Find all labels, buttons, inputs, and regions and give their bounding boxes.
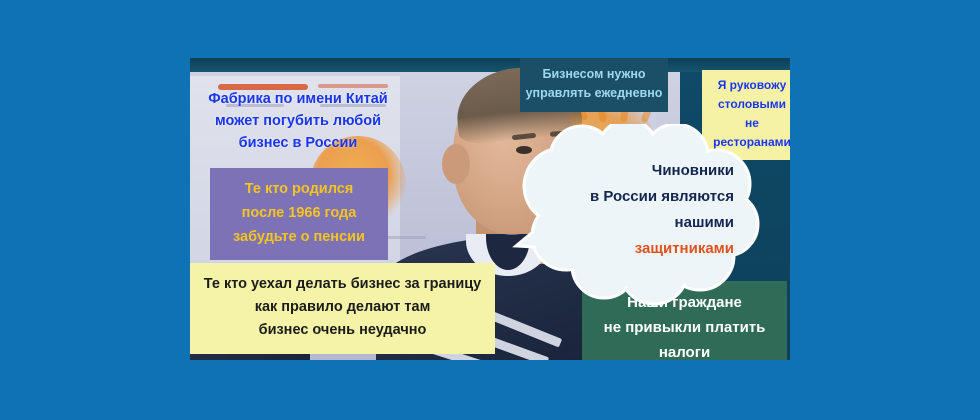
caption-abroad-line-3: бизнес очень неудачно [198, 319, 487, 342]
caption-pension-line-3: забудьте о пенсии [216, 225, 382, 249]
caption-china-line-2: может погубить любой [198, 110, 398, 132]
speech-cloud: Чиновники в России являются нашими защит… [510, 124, 760, 309]
caption-abroad-line-1: Те кто уехал делать бизнес за границу [198, 273, 487, 296]
person-ear [442, 144, 470, 184]
caption-china: Фабрика по имени Китай может погубить лю… [198, 88, 398, 154]
caption-pension: Те кто родился после 1966 года забудьте … [210, 168, 388, 260]
caption-daily-line-2: управлять ежедневно [525, 84, 663, 103]
cloud-line-3: нашими [538, 210, 734, 236]
caption-china-line-3: бизнес в России [198, 132, 398, 154]
cloud-line-highlight: защитниками [538, 236, 734, 262]
caption-china-line-1: Фабрика по имени Китай [198, 88, 398, 110]
cloud-line-1: Чиновники [538, 158, 734, 184]
photo-collage: НАШЕ ПОДМОСКОВЬЕ Фабрика по имени Китай … [190, 58, 790, 360]
backdrop-top-bar [190, 58, 790, 72]
caption-canteen-line-1: Я руковожу [705, 76, 790, 95]
caption-daily-management: Бизнесом нужно управлять ежедневно [520, 58, 668, 112]
caption-pension-line-2: после 1966 года [216, 201, 382, 225]
caption-daily-line-1: Бизнесом нужно [525, 65, 663, 84]
caption-abroad-line-2: как правило делают там [198, 296, 487, 319]
caption-pension-line-1: Те кто родился [216, 177, 382, 201]
caption-abroad: Те кто уехал делать бизнес за границу ка… [190, 263, 495, 354]
caption-taxes-line-2: не привыкли платить [590, 315, 779, 340]
caption-canteen-line-2: столовыми [705, 95, 790, 114]
cloud-line-2: в России являются [538, 184, 734, 210]
caption-taxes-line-3: налоги [590, 340, 779, 360]
speech-cloud-text: Чиновники в России являются нашими защит… [538, 158, 734, 262]
